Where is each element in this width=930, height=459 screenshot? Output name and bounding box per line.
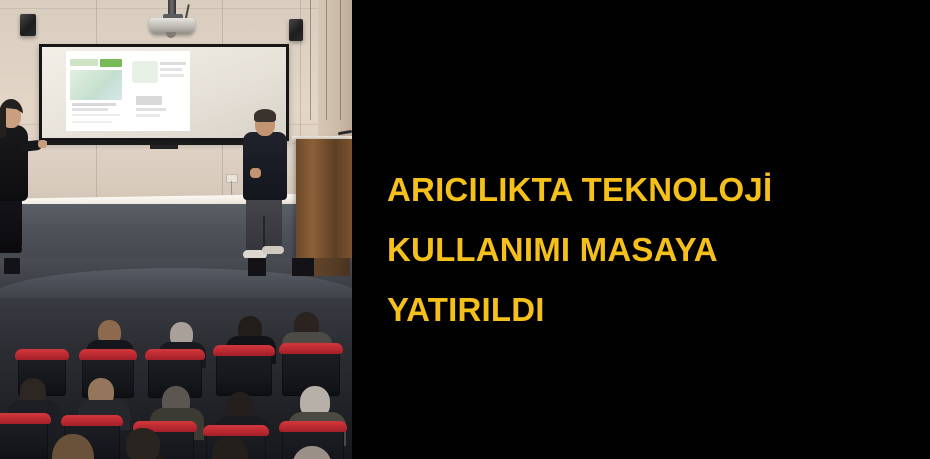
audience-seat bbox=[0, 418, 48, 459]
slide-text-line bbox=[72, 103, 116, 106]
wall-pillar bbox=[318, 0, 352, 150]
slide-graphic bbox=[132, 61, 158, 83]
slide-text-line bbox=[160, 62, 186, 65]
podium-slat bbox=[326, 0, 327, 120]
presenter-left-legs bbox=[0, 196, 22, 248]
presenter-right-hand bbox=[250, 168, 261, 178]
podium-slat bbox=[340, 0, 341, 120]
slide-text-line bbox=[136, 108, 166, 111]
slide-graphic bbox=[70, 59, 98, 66]
slide-text-line bbox=[160, 68, 182, 71]
slide-text-line bbox=[136, 114, 160, 117]
wall-panel-seam bbox=[0, 8, 352, 9]
projection-screen-base-clip bbox=[150, 145, 178, 149]
news-card: ARICILIKTA TEKNOLOJİ KULLANIMI MASAYA YA… bbox=[0, 0, 930, 459]
speaker-icon bbox=[20, 14, 36, 36]
headline-panel: ARICILIKTA TEKNOLOJİ KULLANIMI MASAYA YA… bbox=[352, 0, 930, 459]
audience-area bbox=[0, 258, 352, 459]
presenter-right-hair bbox=[254, 109, 276, 122]
standing-person bbox=[248, 258, 266, 276]
presenter-left-hand bbox=[38, 140, 47, 148]
presenter-right-shoes bbox=[262, 246, 284, 254]
wooden-lectern bbox=[296, 139, 352, 259]
slide-text-line bbox=[160, 74, 184, 77]
news-photo bbox=[0, 0, 352, 459]
audience-seat bbox=[216, 350, 272, 396]
slide-text-line bbox=[72, 114, 120, 116]
slide-text-line bbox=[72, 121, 112, 123]
presenter-left-hair-back bbox=[0, 108, 6, 138]
slide-graphic bbox=[100, 59, 122, 67]
speaker-icon bbox=[289, 19, 303, 41]
presentation-slide bbox=[66, 51, 190, 131]
slide-text-line bbox=[72, 108, 108, 111]
slide-graphic bbox=[70, 70, 122, 100]
audience-head bbox=[126, 428, 160, 459]
podium-slat bbox=[310, 0, 311, 120]
standing-person bbox=[4, 258, 20, 274]
standing-person bbox=[292, 258, 314, 276]
presenter-left-shoes bbox=[0, 243, 22, 253]
page-title: ARICILIKTA TEKNOLOJİ KULLANIMI MASAYA YA… bbox=[387, 160, 907, 340]
slide-logo bbox=[136, 96, 162, 105]
